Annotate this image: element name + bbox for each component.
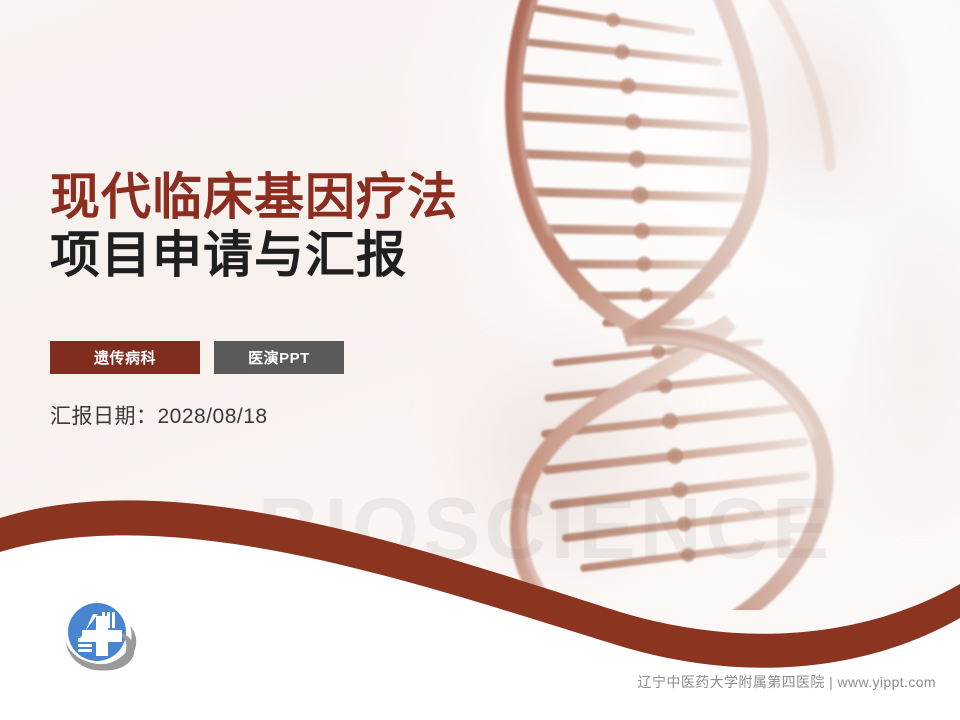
badge-template[interactable]: 医演PPT <box>214 341 344 374</box>
badge-department[interactable]: 遗传病科 <box>50 341 200 374</box>
report-date: 汇报日期：2028/08/18 <box>50 400 268 430</box>
title-line-primary: 现代临床基因疗法 <box>50 168 570 226</box>
badge-group: 遗传病科 医演PPT <box>50 341 344 374</box>
footer-caption: 辽宁中医药大学附属第四医院 | www.yippt.com <box>638 672 936 692</box>
hospital-logo <box>52 592 148 674</box>
page-title: 现代临床基因疗法 项目申请与汇报 <box>50 168 570 284</box>
title-slide: BIOSCIENCE 现代临床基因疗法 项目申请与汇报 遗传病科 医演PPT 汇… <box>0 0 960 720</box>
title-line-secondary: 项目申请与汇报 <box>50 226 570 284</box>
